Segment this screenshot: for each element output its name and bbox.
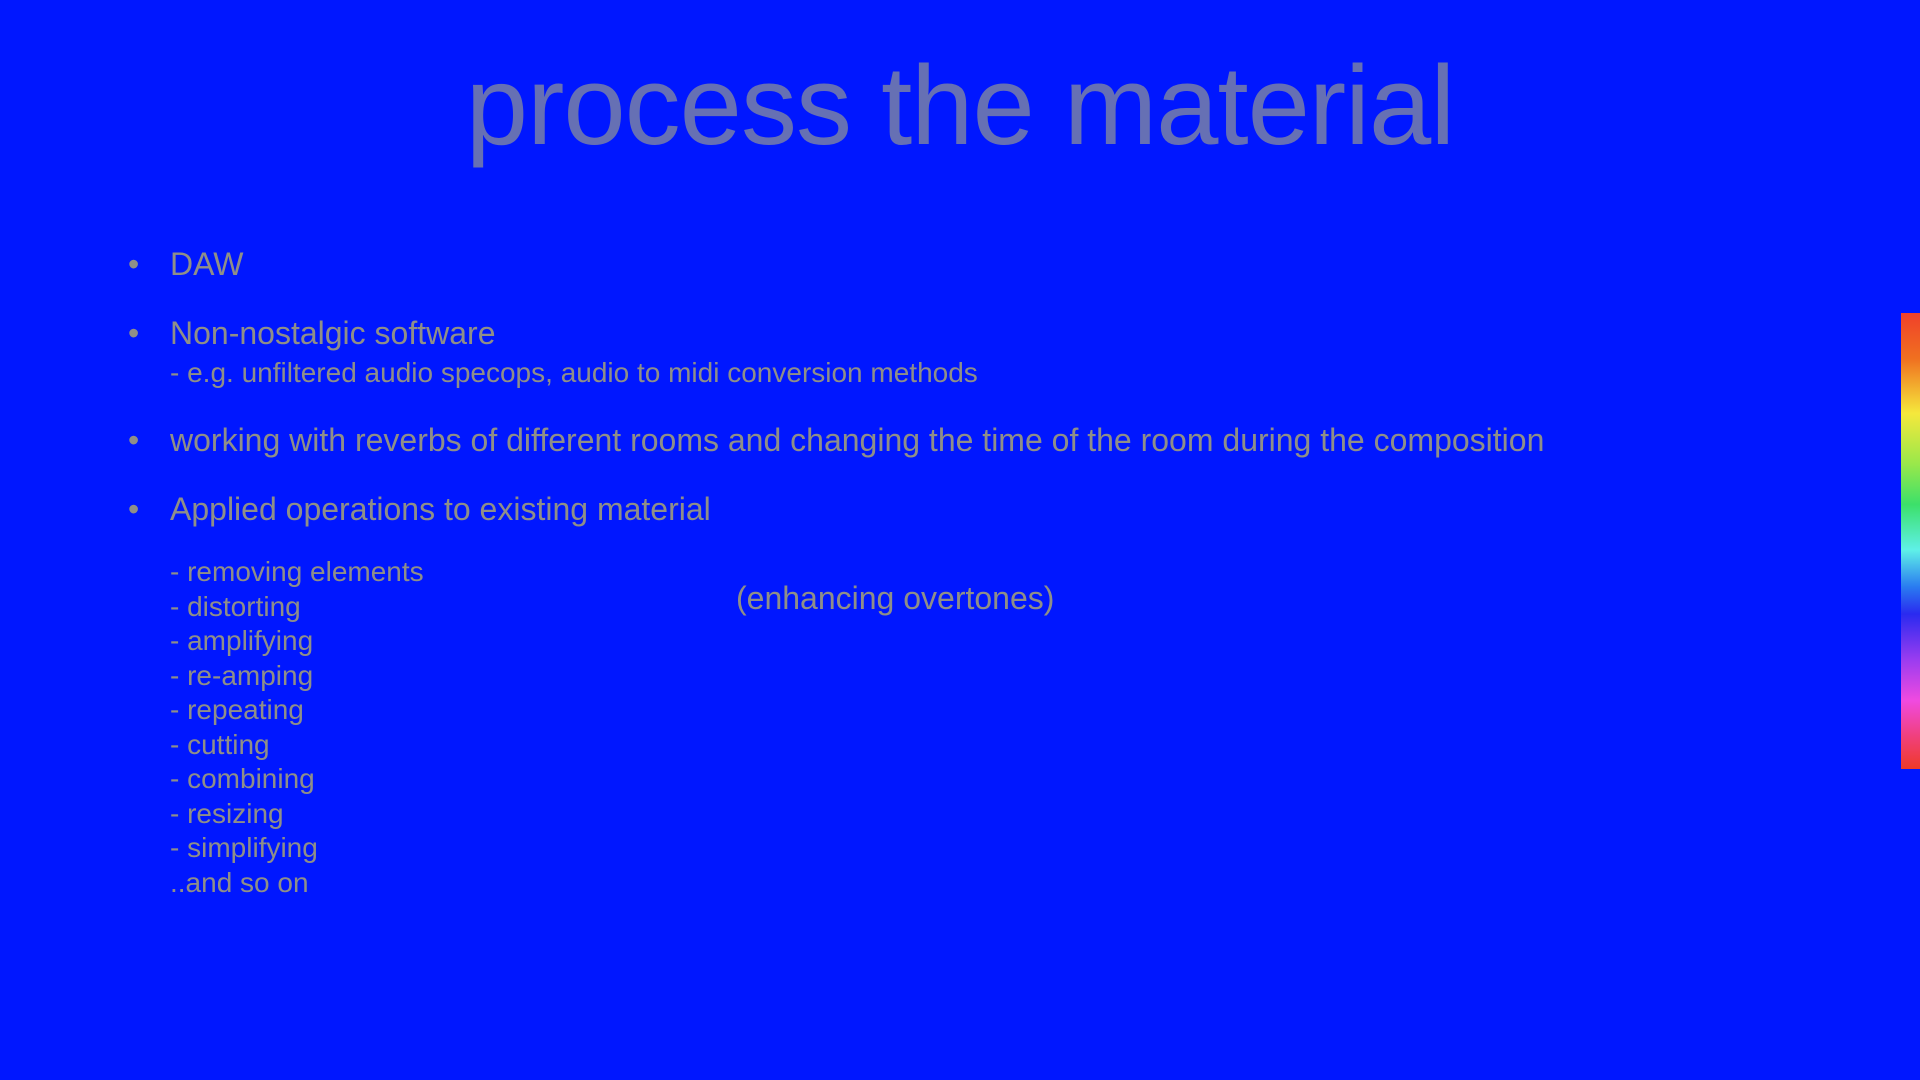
operation-item: - resizing: [170, 797, 1868, 832]
bullet-item-non-nostalgic-software: • Non-nostalgic software - e.g. unfilter…: [128, 313, 1868, 392]
color-spectrum-strip: [1901, 313, 1920, 769]
bullet-point-icon: •: [128, 313, 170, 353]
operation-item: - cutting: [170, 728, 1868, 763]
spacer: [128, 392, 1868, 420]
slide-title: process the material: [0, 46, 1920, 167]
operations-area: - removing elements - distorting - ampli…: [128, 555, 1868, 900]
bullet-label: DAW: [170, 246, 243, 282]
spacer: [128, 460, 1868, 489]
slide-body: • DAW • Non-nostalgic software - e.g. un…: [128, 244, 1868, 900]
presentation-slide: process the material • DAW • Non-nostalg…: [0, 0, 1920, 1080]
operation-item: - repeating: [170, 693, 1868, 728]
bullet-item-applied-operations: • Applied operations to existing materia…: [128, 489, 1868, 529]
operation-item: - combining: [170, 762, 1868, 797]
bullet-label: Non-nostalgic software: [170, 315, 495, 351]
operation-item: - simplifying: [170, 831, 1868, 866]
bullet-label: working with reverbs of different rooms …: [170, 422, 1544, 458]
bullet-point-icon: •: [128, 489, 170, 529]
bullet-point-icon: •: [128, 244, 170, 284]
bullet-item-daw: • DAW: [128, 244, 1868, 284]
bullet-subline: - e.g. unfiltered audio specops, audio t…: [170, 353, 1868, 392]
bullet-label: Applied operations to existing material: [170, 491, 711, 527]
operation-item: - amplifying: [170, 624, 1868, 659]
spacer: [128, 284, 1868, 313]
bullet-item-reverbs: • working with reverbs of different room…: [128, 420, 1868, 460]
bullet-point-icon: •: [128, 420, 170, 460]
operation-item: ..and so on: [170, 866, 1868, 901]
operation-item: - re-amping: [170, 659, 1868, 694]
operations-note: (enhancing overtones): [736, 581, 1054, 616]
